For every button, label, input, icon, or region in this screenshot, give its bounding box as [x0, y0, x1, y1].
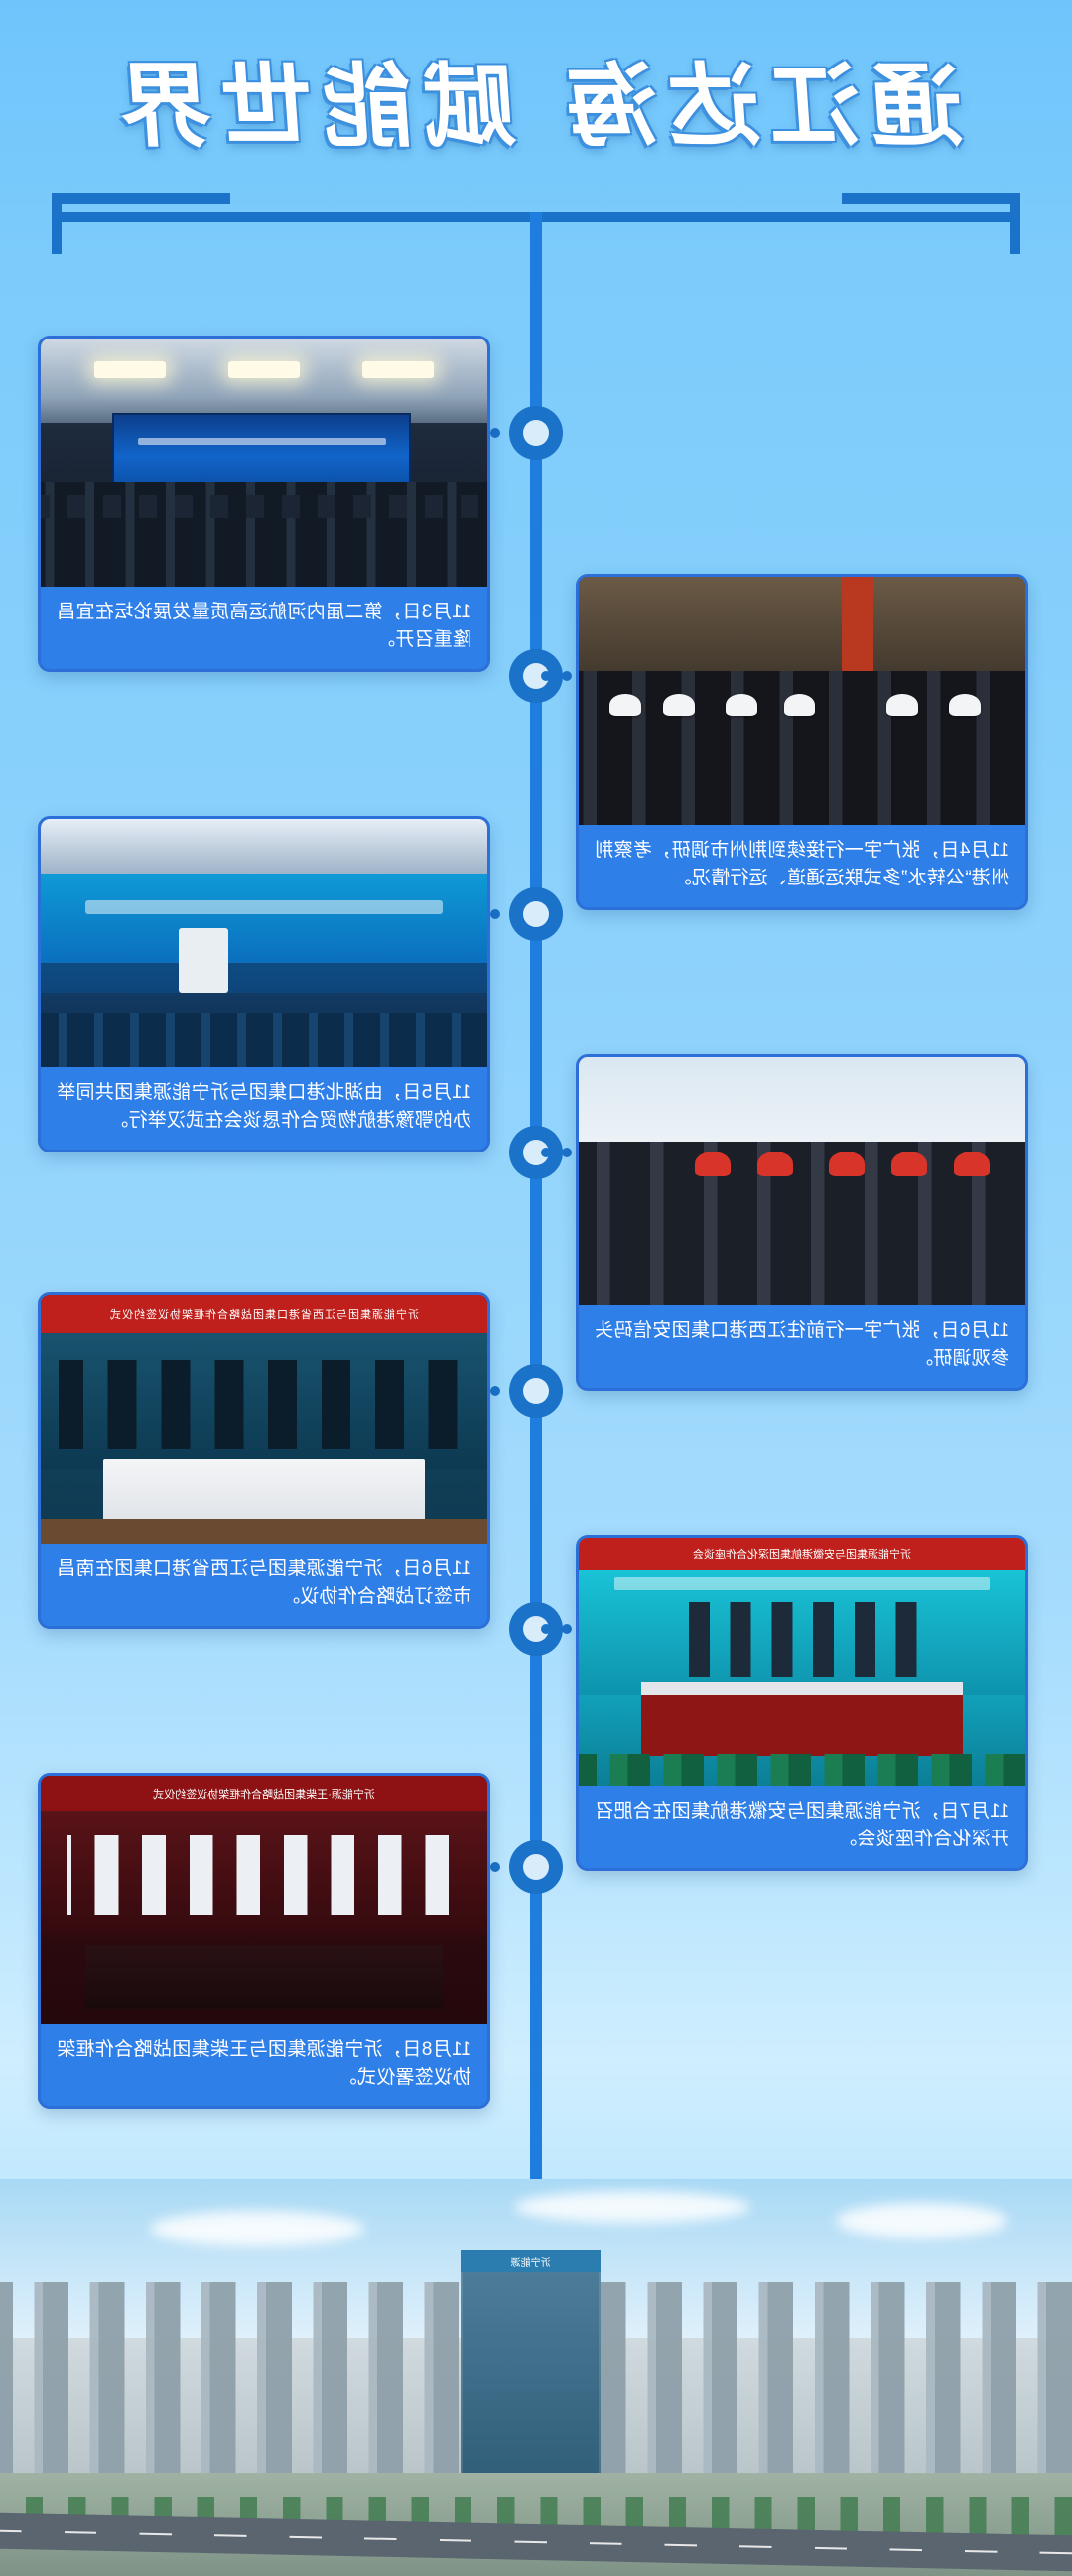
cloud-icon — [836, 2203, 1007, 2238]
card-photo-forum-stage — [41, 819, 487, 1067]
frame-cap-left — [842, 193, 1020, 204]
photo-banner-text: 沂宁能源·王柴集团战略合作框架协议签约仪式 — [41, 1776, 487, 1811]
poster-title-area: 通江达海 赋能世界 — [0, 42, 1072, 171]
poster-root: 通江达海 赋能世界 — [0, 0, 1072, 2576]
card-caption: 11月4日，张广宇一行接续到荆州市调研，考察荆州港“公转水”多式联运通道、运行情… — [579, 825, 1025, 907]
timeline-node-7 — [509, 1840, 563, 1894]
timeline-node-1 — [509, 406, 563, 460]
card-caption: 11月6日，张广宇一行前往江西港口集团安信码头参观调研。 — [579, 1305, 1025, 1388]
cloud-icon — [514, 2191, 750, 2223]
headquarters-building: 沂宁能源 — [461, 2250, 600, 2497]
timeline-node-dot — [523, 1378, 549, 1404]
card-photo-signing-ceremony: 沂宁能源集团与江西省港口集团战略合作框架协议签约仪式 — [41, 1295, 487, 1544]
timeline-card-2[interactable]: 11月4日，张广宇一行接续到荆州市调研，考察荆州港“公转水”多式联运通道、运行情… — [576, 574, 1028, 910]
cloud-icon — [150, 2211, 364, 2246]
card-caption: 11月3日，第二届内河航运高质量发展论坛在宜昌隆重召开。 — [41, 587, 487, 669]
card-photo-outdoor-inspection — [579, 1057, 1025, 1305]
timeline-card-7[interactable]: 沂宁能源·王柴集团战略合作框架协议签约仪式 11月8日，沂宁能源集团与王柴集团战… — [38, 1773, 490, 2109]
card-photo-signing-teal-stage: 沂宁能源集团与安徽港航集团深化合作座谈会 — [579, 1538, 1025, 1786]
building-sign: 沂宁能源 — [461, 2250, 600, 2272]
timeline-card-1[interactable]: 11月3日，第二届内河航运高质量发展论坛在宜昌隆重召开。 — [38, 336, 490, 672]
timeline-node-5 — [509, 1364, 563, 1418]
footer-cityscape-photo: 沂宁能源 — [0, 2179, 1072, 2576]
card-caption: 11月7日，沂宁能源集团与安徽港航集团在合肥召开深化合作座谈会。 — [579, 1786, 1025, 1868]
card-photo-conference-hall — [41, 339, 487, 587]
timeline-node-dot — [523, 901, 549, 927]
card-caption: 11月6日，沂宁能源集团与江西省港口集团在南昌市签订战略合作协议。 — [41, 1544, 487, 1626]
timeline-card-5[interactable]: 沂宁能源集团与江西省港口集团战略合作框架协议签约仪式 11月6日，沂宁能源集团与… — [38, 1292, 490, 1629]
photo-banner-text: 沂宁能源集团与安徽港航集团深化合作座谈会 — [579, 1538, 1025, 1570]
frame-side-left — [1010, 195, 1020, 254]
timeline-card-6[interactable]: 沂宁能源集团与安徽港航集团深化合作座谈会 11月7日，沂宁能源集团与安徽港航集团… — [576, 1535, 1028, 1871]
card-photo-industrial-site — [579, 577, 1025, 825]
card-caption: 11月5日，由湖北港口集团与沂宁能源集团共同举办的鄂豫港航物贸合作恳谈会在武汉举… — [41, 1067, 487, 1150]
page-title: 通江达海 赋能世界 — [107, 61, 965, 152]
timeline-spine — [530, 212, 542, 2208]
timeline-card-4[interactable]: 11月6日，张广宇一行前往江西港口集团安信码头参观调研。 — [576, 1054, 1028, 1391]
photo-banner-text: 沂宁能源集团与江西省港口集团战略合作框架协议签约仪式 — [41, 1295, 487, 1333]
card-photo-signing-red-hall: 沂宁能源·王柴集团战略合作框架协议签约仪式 — [41, 1776, 487, 2024]
timeline-node-dot — [523, 1854, 549, 1880]
timeline-node-dot — [523, 420, 549, 446]
frame-cap-right — [52, 193, 230, 204]
frame-side-right — [52, 195, 62, 254]
timeline-card-3[interactable]: 11月5日，由湖北港口集团与沂宁能源集团共同举办的鄂豫港航物贸合作恳谈会在武汉举… — [38, 816, 490, 1152]
timeline-node-3 — [509, 887, 563, 941]
card-caption: 11月8日，沂宁能源集团与王柴集团战略合作框架协议签署仪式。 — [41, 2024, 487, 2106]
